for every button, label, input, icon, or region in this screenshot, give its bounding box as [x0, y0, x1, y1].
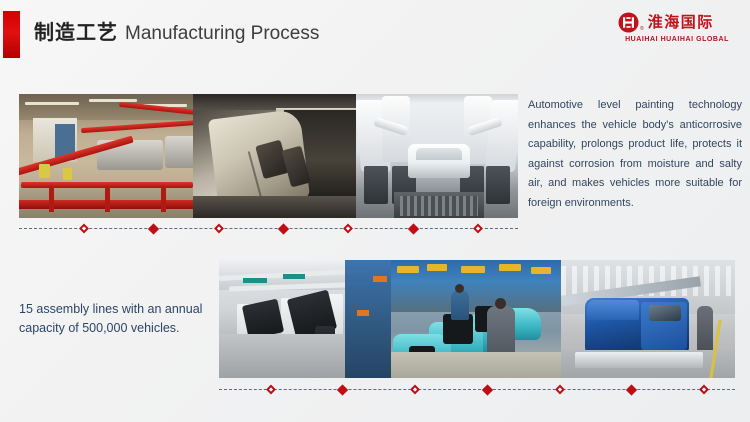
- registered-trademark-icon: ®: [640, 27, 644, 32]
- photo-body-shop-conveyor: [19, 94, 193, 218]
- top-photo-strip: [19, 94, 518, 218]
- page-title: 制造工艺 Manufacturing Process: [34, 16, 319, 50]
- logo-name-chinese: 淮海国际: [648, 15, 714, 30]
- top-dashed-divider: [19, 222, 518, 236]
- photo-scooter-assembly-line: [391, 260, 561, 378]
- assembly-capacity-caption: 15 assembly lines with an annual capacit…: [19, 300, 211, 338]
- page-title-chinese: 制造工艺: [34, 23, 118, 43]
- photo-final-assembly-blue-car: [561, 260, 735, 378]
- bottom-dashed-divider: [219, 383, 735, 397]
- huaihai-emblem-icon: [618, 12, 639, 33]
- photo-chassis-frame-line: [219, 260, 391, 378]
- page-title-english: Manufacturing Process: [125, 24, 319, 43]
- slide-manufacturing-process: 制造工艺 Manufacturing Process ® 淮海国际 HUAIHA…: [0, 0, 750, 422]
- photo-electrocoat-dip-bath: [193, 94, 356, 218]
- painting-technology-paragraph: Automotive level painting technology enh…: [528, 96, 742, 214]
- bottom-photo-strip: [219, 260, 735, 378]
- red-accent-bar: [3, 11, 20, 58]
- company-logo: ® 淮海国际 HUAIHAI HUAIHAI GLOBAL: [618, 11, 738, 47]
- logo-name-english: HUAIHAI HUAIHAI GLOBAL: [618, 36, 736, 43]
- photo-robotic-paint-shop: [356, 94, 518, 218]
- slide-header: 制造工艺 Manufacturing Process ® 淮海国际 HUAIHA…: [0, 0, 750, 62]
